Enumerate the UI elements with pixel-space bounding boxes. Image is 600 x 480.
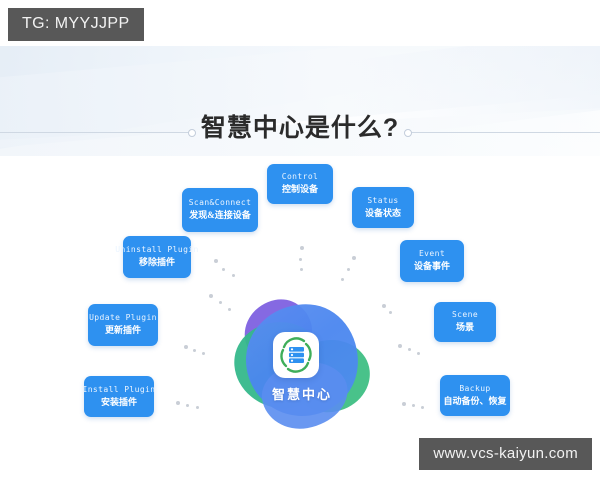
node-install-plugin-en: Install Plugin	[82, 385, 155, 395]
node-scene-en: Scene	[452, 310, 478, 320]
node-event-cn: 设备事件	[414, 261, 450, 272]
node-install-plugin[interactable]: Install Plugin 安装插件	[84, 376, 154, 417]
page-root: TG: MYYJJPP 智慧中心是什么? “智慧中心”是“智汀智能生态”的核心软…	[0, 0, 600, 480]
node-status-cn: 设备状态	[365, 208, 401, 219]
server-list-sync-icon	[273, 332, 319, 378]
node-uninstall-plugin[interactable]: Uninstall Plugin 移除插件	[123, 236, 191, 278]
node-scene[interactable]: Scene 场景	[434, 302, 496, 342]
node-backup[interactable]: Backup 自动备份、恢复	[440, 375, 510, 416]
node-control-cn: 控制设备	[282, 184, 318, 195]
smart-center-logo-card	[273, 332, 319, 378]
node-scan-connect[interactable]: Scan&Connect 发现&连接设备	[182, 188, 258, 232]
page-header: 智慧中心是什么? “智慧中心”是“智汀智能生态”的核心软件之一，安装即支持 局域…	[0, 46, 600, 156]
node-uninstall-plugin-en: Uninstall Plugin	[115, 245, 198, 255]
node-control-en: Control	[282, 172, 319, 182]
center-hub[interactable]: 智慧中心	[232, 296, 372, 426]
site-watermark: www.vcs-kaiyun.com	[419, 438, 592, 470]
telegram-watermark-badge: TG: MYYJJPP	[8, 8, 144, 41]
node-control[interactable]: Control 控制设备	[267, 164, 333, 204]
node-scan-connect-cn: 发现&连接设备	[189, 210, 251, 221]
node-scene-cn: 场景	[456, 322, 474, 333]
node-uninstall-plugin-cn: 移除插件	[139, 257, 175, 268]
node-scan-connect-en: Scan&Connect	[189, 198, 252, 208]
node-update-plugin[interactable]: Update Plugin 更新插件	[88, 304, 158, 346]
node-event[interactable]: Event 设备事件	[400, 240, 464, 282]
node-status-en: Status	[367, 196, 398, 206]
node-install-plugin-cn: 安装插件	[101, 397, 137, 408]
node-backup-en: Backup	[459, 384, 490, 394]
node-update-plugin-en: Update Plugin	[89, 313, 157, 323]
node-update-plugin-cn: 更新插件	[105, 325, 141, 336]
node-backup-cn: 自动备份、恢复	[443, 396, 506, 407]
capability-diagram: Control 控制设备 Scan&Connect 发现&连接设备 Status…	[0, 156, 600, 420]
page-title: 智慧中心是什么?	[0, 108, 600, 144]
hub-label: 智慧中心	[232, 384, 372, 403]
node-event-en: Event	[419, 249, 445, 259]
node-status[interactable]: Status 设备状态	[352, 187, 414, 228]
